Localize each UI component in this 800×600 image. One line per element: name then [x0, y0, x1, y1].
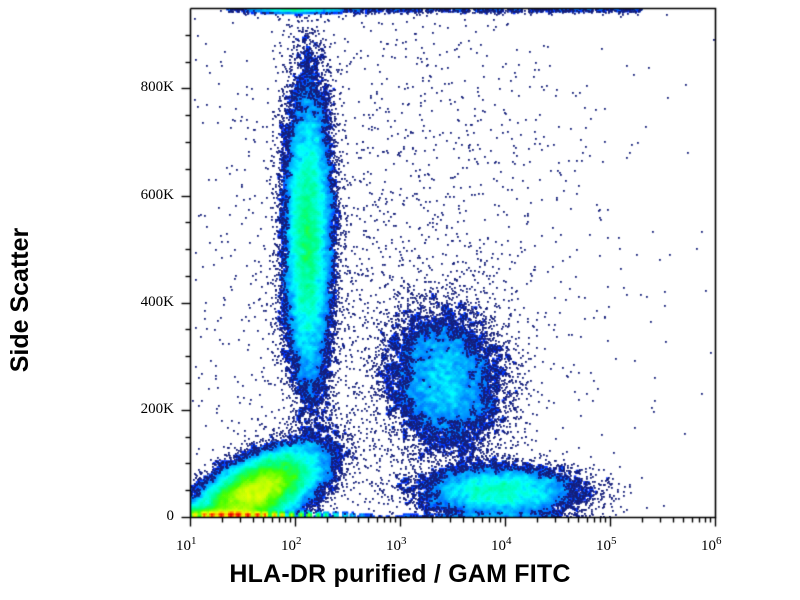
x-tick-label-1e6: 106: [701, 535, 722, 555]
x-axis-title: HLA-DR purified / GAM FITC: [0, 560, 800, 589]
x-tick-label-1e3: 103: [386, 535, 407, 555]
y-tick-label-0: 0: [112, 508, 174, 525]
x-tick-label-1e2: 102: [281, 535, 302, 555]
flow-cytometry-figure: 0 200K 400K 600K 800K 101102103104105106…: [0, 0, 800, 600]
y-tick-label-200k: 200K: [112, 401, 174, 418]
x-tick-label-1e5: 105: [596, 535, 617, 555]
x-tick-label-1e1: 101: [176, 535, 197, 555]
y-tick-label-600k: 600K: [112, 187, 174, 204]
y-tick-label-400k: 400K: [112, 294, 174, 311]
y-tick-label-800k: 800K: [112, 79, 174, 96]
x-tick-label-1e4: 104: [491, 535, 512, 555]
